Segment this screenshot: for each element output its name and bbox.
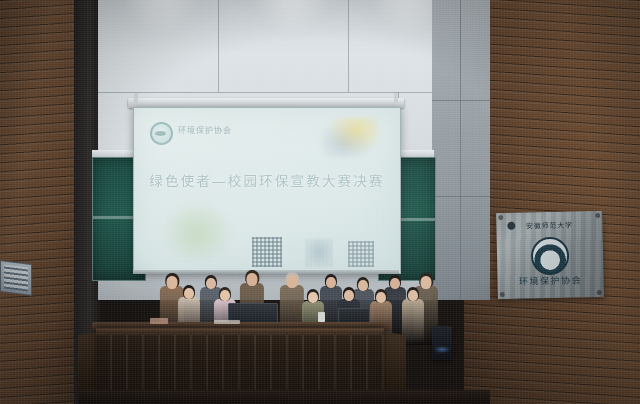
podium-front-panel [96,328,384,395]
association-banner: 安徽师范大学 环境保护协会 [496,211,604,299]
person-head [376,292,386,304]
slide-org-label: 环境保护协会 [178,125,232,136]
desk-document [214,320,240,324]
desk-cup [318,312,325,322]
ceiling-spotlight [248,0,336,36]
right-wood-wall [464,0,640,404]
wall-seam [348,0,349,92]
person-head [287,275,298,288]
person-head [247,273,258,286]
person-head [344,290,354,302]
left-wood-wall [0,0,78,404]
wall-seam [98,92,468,93]
banner-association-name: 环境保护协会 [497,273,603,288]
pa-speaker [432,326,452,360]
wall-notice-sign [0,260,32,296]
association-seal-icon [531,237,570,276]
projection-screen: 环境保护协会 绿色使者—校园环保宣教大赛决赛 [133,107,401,274]
sun-cloud-graphic [322,118,378,158]
person-head [220,290,230,302]
person-head [184,288,194,300]
person-head [308,292,318,304]
person-head [326,277,336,289]
person-head [390,278,400,290]
desk-papers [150,318,168,324]
wall-seam [218,0,219,92]
association-logo-icon [150,122,173,145]
right-gray-panel-wall [432,0,490,300]
slide-title: 绿色使者—校园环保宣教大赛决赛 [134,170,400,190]
ceiling-spotlight [118,0,206,36]
stage-floor [78,390,490,404]
lecture-hall-photo: 环境保护协会 绿色使者—校园环保宣教大赛决赛 安徽师范大学 环境保护协会 [0,0,640,404]
banner-university-name: 安徽师范大学 [496,220,602,232]
person-head [408,290,418,302]
